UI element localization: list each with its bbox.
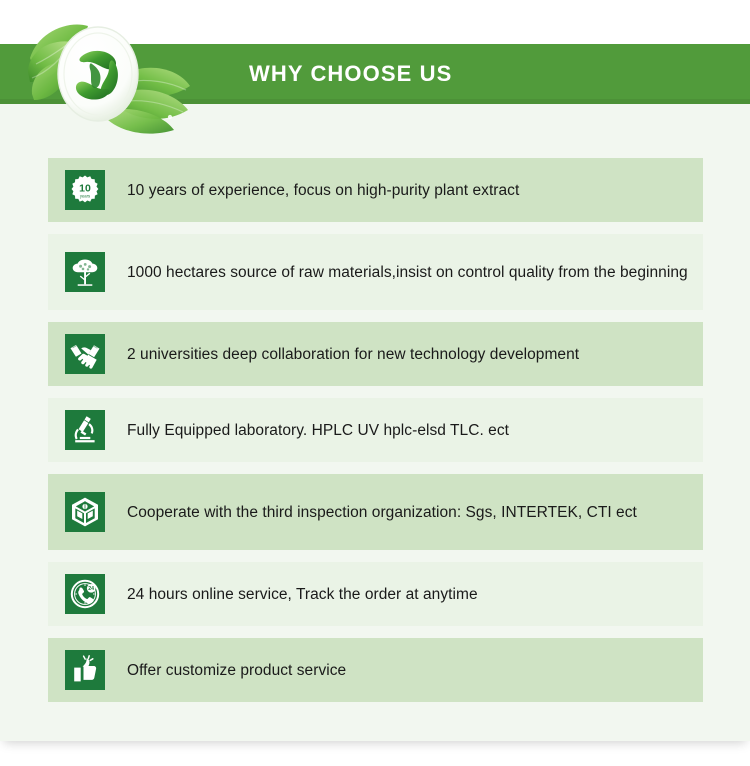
page-root: WHY CHOOSE US 10 years 10 years of exper… bbox=[0, 0, 750, 766]
cube-inspection-icon bbox=[65, 492, 105, 532]
svg-text:years: years bbox=[80, 194, 90, 199]
feature-row: Cooperate with the third inspection orga… bbox=[48, 474, 703, 550]
feature-row: 24 24 hours online service, Track the or… bbox=[48, 562, 703, 626]
thumbs-up-icon bbox=[65, 650, 105, 690]
feature-text: 10 years of experience, focus on high-pu… bbox=[127, 179, 519, 202]
feature-row: Fully Equipped laboratory. HPLC UV hplc-… bbox=[48, 398, 703, 462]
microscope-icon bbox=[65, 410, 105, 450]
feature-text: 2 universities deep collaboration for ne… bbox=[127, 343, 579, 366]
page-header: WHY CHOOSE US bbox=[0, 0, 750, 140]
handshake-icon bbox=[65, 334, 105, 374]
feature-text: Offer customize product service bbox=[127, 659, 346, 682]
page-title: WHY CHOOSE US bbox=[249, 59, 452, 89]
tree-icon bbox=[65, 252, 105, 292]
svg-text:24: 24 bbox=[88, 586, 94, 592]
feature-text: Cooperate with the third inspection orga… bbox=[127, 501, 637, 524]
feature-list: 10 years 10 years of experience, focus o… bbox=[48, 158, 703, 714]
feature-row: 1000 hectares source of raw materials,in… bbox=[48, 234, 703, 310]
feature-row: 2 universities deep collaboration for ne… bbox=[48, 322, 703, 386]
feature-row: Offer customize product service bbox=[48, 638, 703, 702]
feature-text: 24 hours online service, Track the order… bbox=[127, 583, 478, 606]
feature-text: 1000 hectares source of raw materials,in… bbox=[127, 261, 688, 284]
ten-years-badge-icon: 10 years bbox=[65, 170, 105, 210]
feature-row: 10 years 10 years of experience, focus o… bbox=[48, 158, 703, 222]
phone-24h-icon: 24 bbox=[65, 574, 105, 614]
leaf-circle-logo bbox=[20, 12, 220, 137]
feature-text: Fully Equipped laboratory. HPLC UV hplc-… bbox=[127, 419, 509, 442]
